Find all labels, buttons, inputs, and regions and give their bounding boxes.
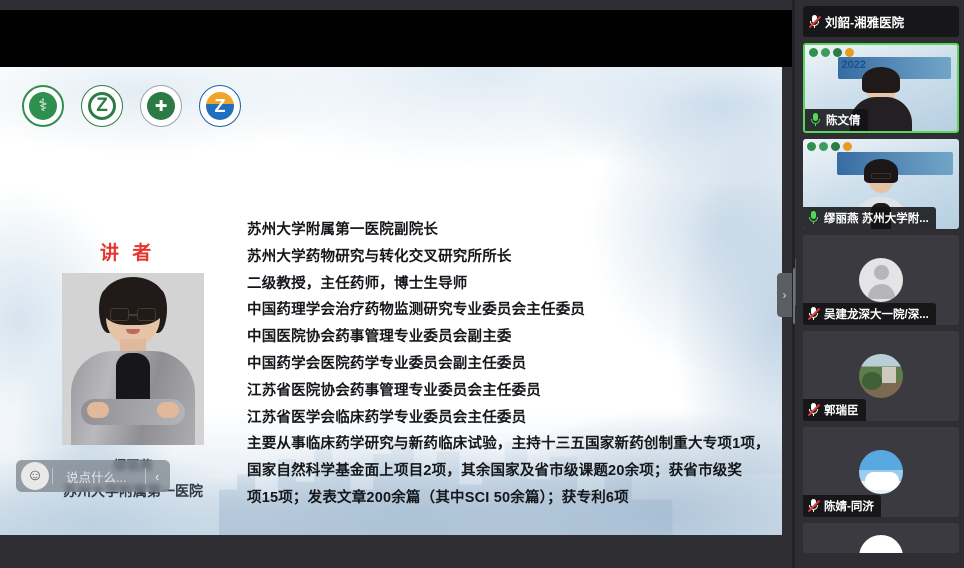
banner-year: 2022 <box>841 59 865 71</box>
organization-logos: ⚕ Z ✚ Z <box>22 85 241 127</box>
mic-muted-icon <box>808 307 819 321</box>
speaker-portrait <box>62 273 204 445</box>
participant-tile[interactable] <box>803 523 959 553</box>
participant-name: 缪丽燕 苏州大学附... <box>824 210 929 226</box>
bio-line: 中国医院协会药事管理专业委员会副主委 <box>247 324 770 351</box>
default-avatar-icon <box>859 258 903 302</box>
participant-tile[interactable]: 缪丽燕 苏州大学附... <box>803 139 959 229</box>
bio-line: 主要从事临床药学研究与新药临床试验，主持十三五国家新药创制重大专项1项， <box>247 431 770 458</box>
mini-logos <box>807 142 852 151</box>
participant-filmstrip[interactable]: 刘韶-湘雅医院 2022 陈文倩 <box>798 0 964 568</box>
bio-line: 江苏省医学会临床药学专业委员会主任委员 <box>247 405 770 432</box>
participant-name: 刘韶-湘雅医院 <box>825 12 904 31</box>
participant-name: 陈文倩 <box>826 112 861 128</box>
participant-tile-active[interactable]: 2022 陈文倩 <box>803 43 959 133</box>
bio-line: 中国药理学会治疗药物监测研究专业委员会主任委员 <box>247 297 770 324</box>
logo-glyph: Z <box>206 92 234 120</box>
stage-bottom-filler <box>0 535 795 568</box>
bio-line: 国家自然科学基金面上项目2项，其余国家及省市级课题20余项；获省市级奖 <box>247 458 770 485</box>
zhejiang-society-logo: Z <box>199 85 241 127</box>
logo-glyph: Z <box>88 92 116 120</box>
shared-screen-stage[interactable]: ⚕ Z ✚ Z 讲 者 <box>0 0 795 568</box>
participant-tile[interactable]: 郭瑞臣 <box>803 331 959 421</box>
participant-tile[interactable]: 刘韶-湘雅医院 <box>803 6 959 37</box>
avatar <box>859 535 903 553</box>
meeting-window: ⚕ Z ✚ Z 讲 者 <box>0 0 964 568</box>
soochow-university-logo: Z <box>81 85 123 127</box>
mini-logos <box>809 48 854 57</box>
avatar <box>859 450 903 494</box>
bio-line: 江苏省医院协会药事管理专业委员会主任委员 <box>247 378 770 405</box>
chat-composer[interactable]: ☺ 说点什么... ‹ <box>16 460 170 492</box>
mic-muted-icon <box>808 499 819 513</box>
participant-namebar: 陈婧-同济 <box>803 495 881 517</box>
china-pharma-association-logo: ⚕ <box>22 85 64 127</box>
scrollbar-thumb[interactable] <box>793 268 795 324</box>
speaker-biography: 苏州大学附属第一医院副院长 苏州大学药物研究与转化交叉研究所所长 二级教授，主任… <box>247 217 770 512</box>
mic-unmuted-icon <box>810 113 821 127</box>
participant-tile[interactable]: 吴建龙深大一院/深... <box>803 235 959 325</box>
logo-glyph: ✚ <box>147 92 175 120</box>
chat-input[interactable]: 说点什么... <box>53 467 145 486</box>
avatar <box>859 354 903 398</box>
participant-namebar: 郭瑞臣 <box>803 399 866 421</box>
participant-name: 吴建龙深大一院/深... <box>824 306 929 322</box>
glasses-icon <box>871 173 891 179</box>
chevron-right-icon: › <box>783 288 787 302</box>
participant-tile[interactable]: 陈婧-同济 <box>803 427 959 517</box>
chevron-left-icon[interactable]: ‹ <box>146 469 168 484</box>
emoji-icon[interactable]: ☺ <box>21 462 49 490</box>
participant-name: 陈婧-同济 <box>824 498 874 514</box>
panel-collapse-handle[interactable]: › <box>777 273 792 317</box>
mic-muted-icon <box>808 403 819 417</box>
letterbox-top <box>0 0 795 10</box>
participant-namebar: 陈文倩 <box>805 109 868 131</box>
hospital-association-logo: ✚ <box>140 85 182 127</box>
bio-line: 项15项；发表文章200余篇（其中SCI 50余篇）；获专利6项 <box>247 485 770 512</box>
letterbox-black-band <box>0 10 795 67</box>
person-hair <box>864 159 898 183</box>
mic-unmuted-icon <box>808 211 819 225</box>
glasses-icon <box>110 308 156 321</box>
logo-glyph: ⚕ <box>29 92 57 120</box>
stage-scrollbar[interactable] <box>792 0 795 568</box>
mic-muted-icon <box>809 15 820 29</box>
participant-namebar: 吴建龙深大一院/深... <box>803 303 936 325</box>
participant-name: 郭瑞臣 <box>824 402 859 418</box>
person-hair <box>862 67 900 93</box>
bio-line: 苏州大学附属第一医院副院长 <box>247 217 770 244</box>
participant-namebar: 缪丽燕 苏州大学附... <box>803 207 936 229</box>
bio-line: 中国药学会医院药学专业委员会副主任委员 <box>247 351 770 378</box>
participant-namebar: 刘韶-湘雅医院 <box>803 10 910 33</box>
bio-line: 苏州大学药物研究与转化交叉研究所所长 <box>247 244 770 271</box>
bio-line: 二级教授，主任药师，博士生导师 <box>247 271 770 298</box>
speaker-heading: 讲 者 <box>100 238 155 265</box>
